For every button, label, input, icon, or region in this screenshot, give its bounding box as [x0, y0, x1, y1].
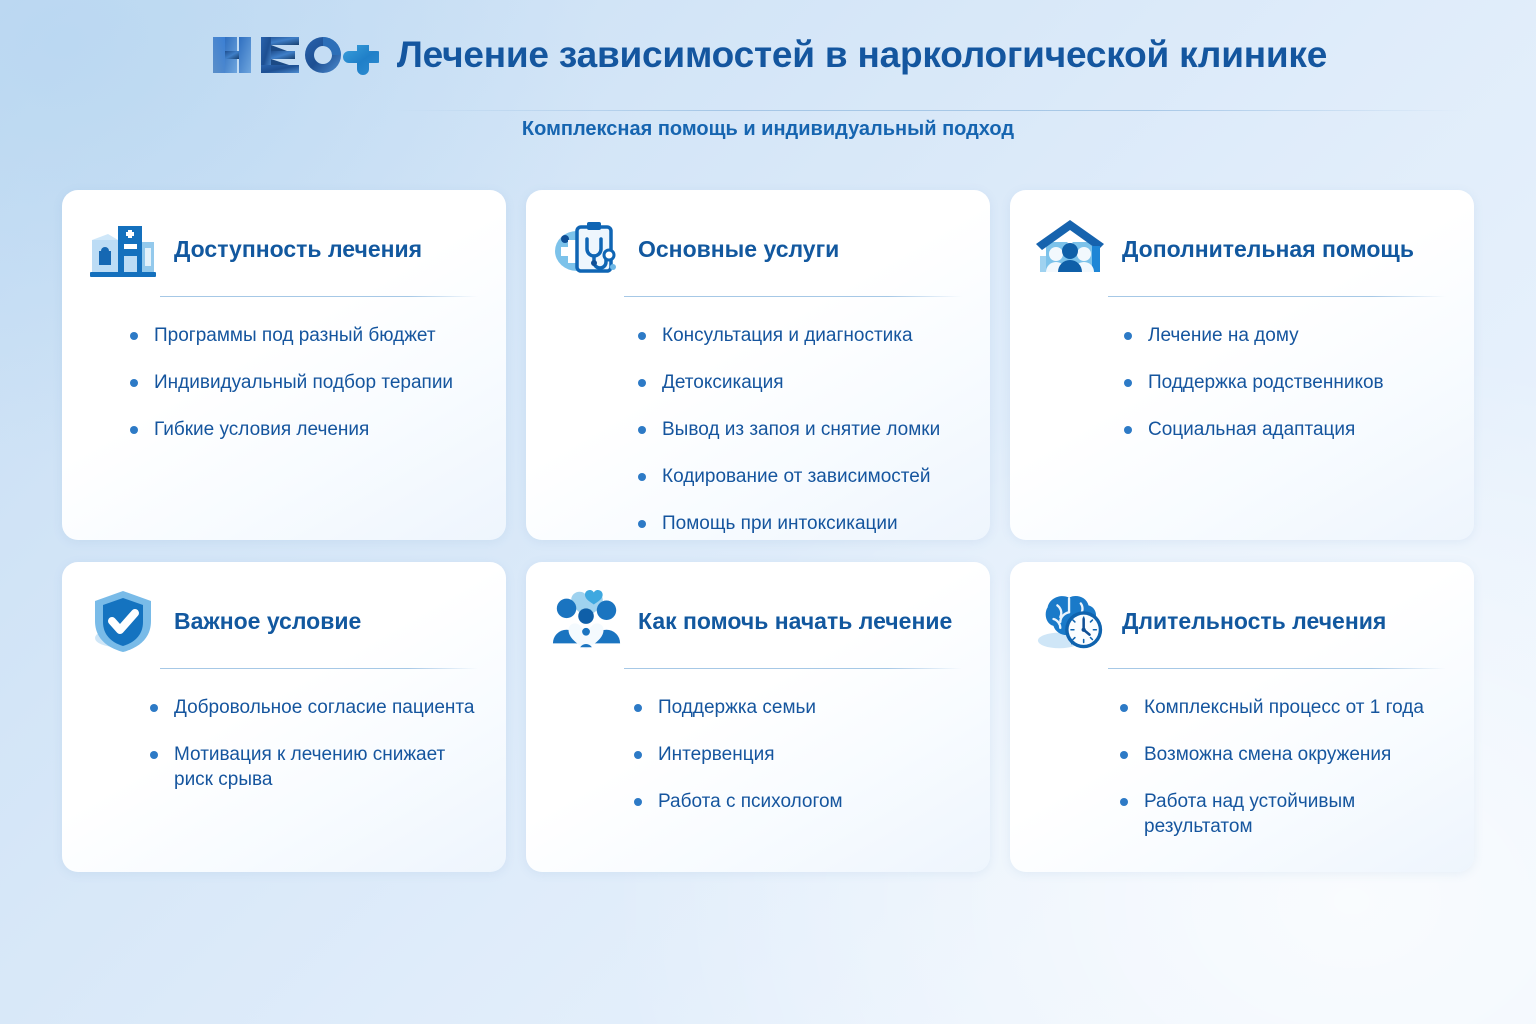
list-item: Детоксикация: [636, 370, 962, 395]
card-kak-pomoch-nachat-lechenie: Как помочь начать лечение Поддержка семь…: [526, 562, 990, 872]
list-item: Консультация и диагностика: [636, 323, 962, 348]
card-list: Лечение на дому Поддержка родственников …: [1122, 323, 1446, 442]
card-header: Основные услуги: [550, 216, 962, 282]
card-title: Доступность лечения: [174, 236, 422, 262]
card-divider: [160, 296, 478, 297]
card-title: Длительность лечения: [1122, 608, 1386, 634]
card-divider: [1108, 296, 1446, 297]
card-list: Добровольное согласие пациента Мотивация…: [148, 695, 478, 792]
list-item: Лечение на дому: [1122, 323, 1446, 348]
card-list: Программы под разный бюджет Индивидуальн…: [128, 323, 478, 442]
card-list: Поддержка семьи Интервенция Работа с пси…: [632, 695, 962, 814]
card-header: Как помочь начать лечение: [550, 588, 962, 654]
list-item: Возможна смена окружения: [1118, 742, 1446, 767]
card-vazhnoe-uslovie: Важное условие Добровольное согласие пац…: [62, 562, 506, 872]
card-dlitelnost-lecheniya: Длительность лечения Комплексный процесс…: [1010, 562, 1474, 872]
card-divider: [1108, 668, 1446, 669]
card-dopolnitelnaya-pomosch: Дополнительная помощь Лечение на дому По…: [1010, 190, 1474, 540]
page-header: Лечение зависимостей в наркологической к…: [0, 0, 1536, 110]
card-divider: [624, 296, 962, 297]
neo-plus-logo: [209, 27, 379, 83]
card-grid: Доступность лечения Программы под разный…: [62, 190, 1474, 872]
card-title: Как помочь начать лечение: [638, 608, 952, 634]
card-title: Дополнительная помощь: [1122, 236, 1414, 262]
card-header: Дополнительная помощь: [1034, 216, 1446, 282]
header-divider: [395, 110, 1465, 111]
list-item: Вывод из запоя и снятие ломки: [636, 417, 962, 442]
list-item: Комплексный процесс от 1 года: [1118, 695, 1446, 720]
page-subtitle-wrap: Комплексная помощь и индивидуальный подх…: [0, 118, 1536, 141]
card-title: Важное условие: [174, 608, 361, 634]
list-item: Поддержка семьи: [632, 695, 962, 720]
card-list: Комплексный процесс от 1 года Возможна с…: [1118, 695, 1446, 839]
list-item: Работа над устойчивым результатом: [1118, 789, 1446, 839]
card-header: Длительность лечения: [1034, 588, 1446, 654]
card-divider: [160, 668, 478, 669]
card-osnovnye-uslugi: Основные услуги Консультация и диагности…: [526, 190, 990, 540]
shield-check-icon: [86, 588, 160, 654]
house-family-icon: [1034, 216, 1108, 282]
list-item: Социальная адаптация: [1122, 417, 1446, 442]
family-heart-icon: [550, 588, 624, 654]
page-title: Лечение зависимостей в наркологической к…: [397, 34, 1327, 76]
card-dostupnost-lecheniya: Доступность лечения Программы под разный…: [62, 190, 506, 540]
brain-clock-icon: [1034, 588, 1108, 654]
list-item: Мотивация к лечению снижает риск срыва: [148, 742, 478, 792]
list-item: Помощь при интоксикации: [636, 511, 962, 536]
card-header: Важное условие: [86, 588, 478, 654]
list-item: Добровольное согласие пациента: [148, 695, 478, 720]
list-item: Интервенция: [632, 742, 962, 767]
list-item: Поддержка родственников: [1122, 370, 1446, 395]
list-item: Кодирование от зависимостей: [636, 464, 962, 489]
clipboard-stethoscope-icon: [550, 216, 624, 282]
card-title: Основные услуги: [638, 236, 839, 262]
list-item: Индивидуальный подбор терапии: [128, 370, 478, 395]
card-list: Консультация и диагностика Детоксикация …: [636, 323, 962, 536]
infographic-page: Лечение зависимостей в наркологической к…: [0, 0, 1536, 1024]
list-item: Работа с психологом: [632, 789, 962, 814]
hospital-building-icon: [86, 216, 160, 282]
page-subtitle: Комплексная помощь и индивидуальный подх…: [522, 118, 1014, 140]
card-divider: [624, 668, 962, 669]
list-item: Программы под разный бюджет: [128, 323, 478, 348]
card-header: Доступность лечения: [86, 216, 478, 282]
list-item: Гибкие условия лечения: [128, 417, 478, 442]
